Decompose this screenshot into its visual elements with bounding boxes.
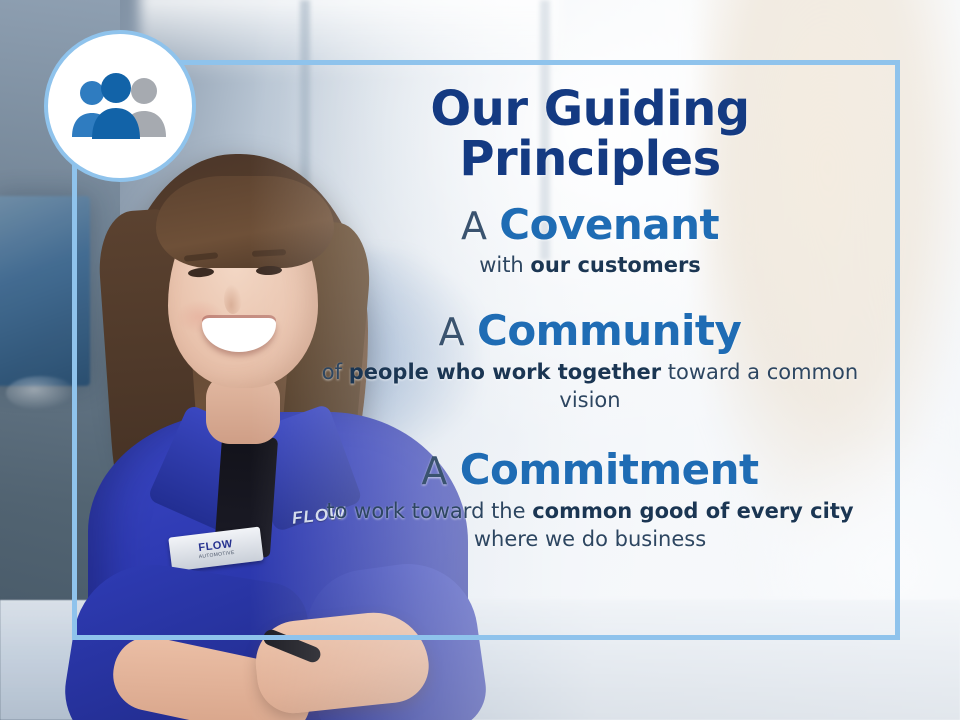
principle-subtitle: of people who work together toward a com… (300, 358, 880, 414)
principle-article: A (421, 449, 447, 493)
principles-text-block: Our Guiding Principles A Covenant with o… (300, 84, 880, 569)
principle-subtitle-plain: to work toward the (326, 499, 532, 523)
people-badge (44, 30, 196, 182)
principle-community: A Community of people who work together … (300, 309, 880, 414)
principle-subtitle: with our customers (300, 251, 880, 279)
principle-subtitle-bold: common good of every city (532, 499, 853, 523)
principle-subtitle-plain: with (479, 253, 530, 277)
principle-word: Commitment (460, 445, 759, 494)
principle-subtitle-plain-2: where we do business (474, 527, 706, 551)
principle-subtitle-plain: of (322, 360, 349, 384)
principle-title: A Commitment (300, 448, 880, 493)
group-of-people-icon (68, 71, 172, 141)
principle-subtitle-bold: our customers (530, 253, 700, 277)
principle-article: A (461, 204, 487, 248)
banner-image: FLOW FLOW AUTOMOTIVE Our Guiding Princip… (0, 0, 960, 720)
principle-article: A (439, 310, 465, 354)
principle-commitment: A Commitment to work toward the common g… (300, 448, 880, 553)
principle-subtitle-bold: people who work together (349, 360, 661, 384)
principle-word: Community (477, 306, 741, 355)
principle-word: Covenant (499, 200, 719, 249)
principle-covenant: A Covenant with our customers (300, 203, 880, 280)
principle-title: A Covenant (300, 203, 880, 248)
principle-title: A Community (300, 309, 880, 354)
page-title: Our Guiding Principles (300, 84, 880, 185)
principle-subtitle: to work toward the common good of every … (300, 497, 880, 553)
